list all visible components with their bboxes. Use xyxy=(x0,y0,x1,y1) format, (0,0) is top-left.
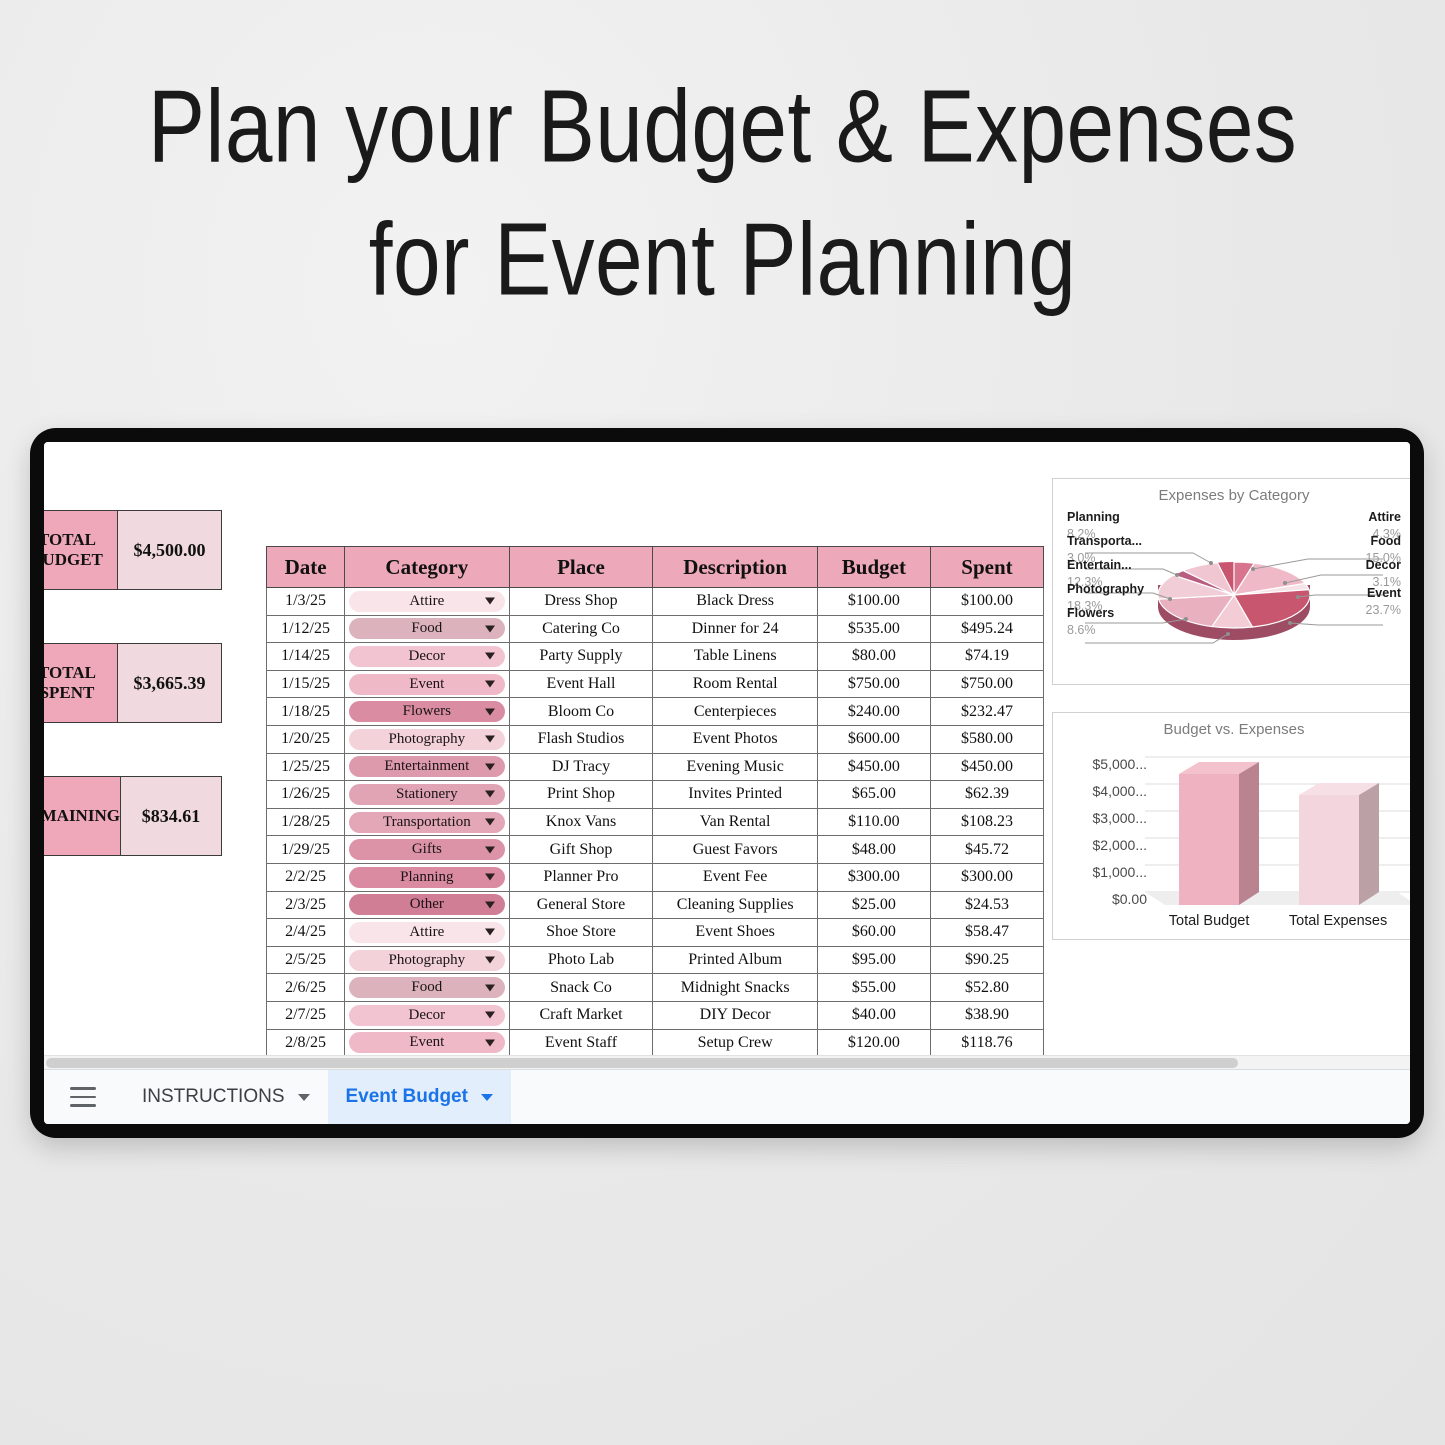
cell-place: Gift Shop xyxy=(509,836,653,864)
cell-spent: $232.47 xyxy=(930,698,1043,726)
chevron-down-icon[interactable] xyxy=(485,791,495,798)
cell-spent: $58.47 xyxy=(930,919,1043,947)
page-title: Plan your Budget & Expenses for Event Pl… xyxy=(0,78,1445,311)
cell-spent: $90.25 xyxy=(930,946,1043,974)
category-dropdown[interactable]: Stationery xyxy=(349,784,504,805)
cell-description: Midnight Snacks xyxy=(653,974,817,1002)
cell-category[interactable]: Decor xyxy=(345,643,509,671)
table-header-budget: Budget xyxy=(817,547,930,588)
cell-category[interactable]: Event xyxy=(345,1029,509,1057)
category-dropdown[interactable]: Decor xyxy=(349,1005,504,1026)
cell-budget: $100.00 xyxy=(817,588,930,616)
y-tick-label: $1,000... xyxy=(1061,859,1147,886)
table-row[interactable]: 1/3/25AttireDress ShopBlack Dress$100.00… xyxy=(267,588,1044,616)
category-dropdown[interactable]: Photography xyxy=(349,729,504,750)
category-label: Gifts xyxy=(412,841,442,858)
cell-spent: $450.00 xyxy=(930,753,1043,781)
category-dropdown[interactable]: Event xyxy=(349,1032,504,1053)
cell-budget: $600.00 xyxy=(817,725,930,753)
table-row[interactable]: 1/18/25FlowersBloom CoCenterpieces$240.0… xyxy=(267,698,1044,726)
cell-category[interactable]: Transportation xyxy=(345,808,509,836)
category-label: Transportation xyxy=(383,814,471,831)
cell-budget: $40.00 xyxy=(817,1001,930,1029)
cell-place: Craft Market xyxy=(509,1001,653,1029)
cell-date: 2/6/25 xyxy=(267,974,345,1002)
chevron-down-icon[interactable] xyxy=(481,1094,493,1101)
cell-spent: $108.23 xyxy=(930,808,1043,836)
category-label: Decor xyxy=(409,648,446,665)
category-dropdown[interactable]: Photography xyxy=(349,950,504,971)
cell-description: Table Linens xyxy=(653,643,817,671)
cell-budget: $80.00 xyxy=(817,643,930,671)
pie-label-event: Event23.7% xyxy=(1366,585,1401,618)
chevron-down-icon[interactable] xyxy=(485,736,495,743)
cell-date: 1/15/25 xyxy=(267,670,345,698)
cell-place: Photo Lab xyxy=(509,946,653,974)
cell-description: Setup Crew xyxy=(653,1029,817,1057)
table-row[interactable]: 2/5/25PhotographyPhoto LabPrinted Album$… xyxy=(267,946,1044,974)
summary-card-0: TOTAL BUDGET$4,500.00 xyxy=(44,510,222,590)
cell-description: Printed Album xyxy=(653,946,817,974)
headline-line-1: Plan your Budget & Expenses xyxy=(51,72,1395,183)
y-tick-label: $0.00 xyxy=(1061,886,1147,913)
cell-budget: $300.00 xyxy=(817,863,930,891)
bar-chart-graphic xyxy=(1145,747,1410,909)
cell-spent: $580.00 xyxy=(930,725,1043,753)
cell-spent: $118.76 xyxy=(930,1029,1043,1057)
cell-date: 1/26/25 xyxy=(267,781,345,809)
cell-date: 2/4/25 xyxy=(267,919,345,947)
cell-category[interactable]: Food xyxy=(345,615,509,643)
cell-description: Event Photos xyxy=(653,725,817,753)
cell-category[interactable]: Stationery xyxy=(345,781,509,809)
cell-spent: $52.80 xyxy=(930,974,1043,1002)
category-label: Event xyxy=(409,676,444,693)
cell-date: 2/2/25 xyxy=(267,863,345,891)
headline-line-2: for Event Planning xyxy=(51,205,1395,316)
summary-cards: TOTAL BUDGET$4,500.00TOTAL SPENT$3,665.3… xyxy=(44,510,236,909)
table-header-date: Date xyxy=(267,547,345,588)
category-dropdown[interactable]: Entertainment xyxy=(349,756,504,777)
cell-budget: $450.00 xyxy=(817,753,930,781)
cell-description: DIY Decor xyxy=(653,1001,817,1029)
cell-spent: $62.39 xyxy=(930,781,1043,809)
cell-budget: $110.00 xyxy=(817,808,930,836)
laptop-screen: TOTAL BUDGET$4,500.00TOTAL SPENT$3,665.3… xyxy=(44,442,1410,1124)
tab-label: Event Budget xyxy=(346,1086,468,1108)
laptop-frame: TOTAL BUDGET$4,500.00TOTAL SPENT$3,665.3… xyxy=(30,428,1424,1138)
pie-chart-title: Expenses by Category xyxy=(1053,487,1410,504)
cell-date: 2/8/25 xyxy=(267,1029,345,1057)
chevron-down-icon[interactable] xyxy=(485,1039,495,1046)
summary-card-1: TOTAL SPENT$3,665.39 xyxy=(44,643,222,723)
cell-place: Dress Shop xyxy=(509,588,653,616)
cell-place: General Store xyxy=(509,891,653,919)
table-row[interactable]: 2/4/25AttireShoe StoreEvent Shoes$60.00$… xyxy=(267,919,1044,947)
cell-budget: $240.00 xyxy=(817,698,930,726)
cell-place: Event Staff xyxy=(509,1029,653,1057)
cell-description: Guest Favors xyxy=(653,836,817,864)
cell-category[interactable]: Food xyxy=(345,974,509,1002)
sheet-tab-event-budget[interactable]: Event Budget xyxy=(328,1070,511,1124)
table-header-place: Place xyxy=(509,547,653,588)
cell-place: DJ Tracy xyxy=(509,753,653,781)
chevron-down-icon[interactable] xyxy=(485,653,495,660)
cell-spent: $74.19 xyxy=(930,643,1043,671)
cell-budget: $55.00 xyxy=(817,974,930,1002)
category-dropdown[interactable]: Food xyxy=(349,618,504,639)
category-dropdown[interactable]: Other xyxy=(349,894,504,915)
table-row[interactable]: 1/12/25FoodCatering CoDinner for 24$535.… xyxy=(267,615,1044,643)
cell-date: 1/12/25 xyxy=(267,615,345,643)
category-dropdown[interactable]: Food xyxy=(349,977,504,998)
x-tick-label: Total Budget xyxy=(1169,913,1250,929)
expenses-by-category-pie-chart[interactable]: Expenses by Category xyxy=(1052,478,1410,685)
summary-card-2: REMAINING$834.61 xyxy=(44,776,222,856)
category-dropdown[interactable]: Flowers xyxy=(349,701,504,722)
category-label: Event xyxy=(409,1034,444,1051)
table-row[interactable]: 1/28/25TransportationKnox VansVan Rental… xyxy=(267,808,1044,836)
cell-description: Centerpieces xyxy=(653,698,817,726)
bar-chart-x-axis: Total BudgetTotal Expenses xyxy=(1149,913,1407,929)
summary-label: TOTAL SPENT xyxy=(44,644,118,722)
bar-chart-y-axis: $5,000...$4,000...$3,000...$2,000...$1,0… xyxy=(1061,751,1147,913)
cell-date: 1/28/25 xyxy=(267,808,345,836)
cell-spent: $300.00 xyxy=(930,863,1043,891)
cell-category[interactable]: Other xyxy=(345,891,509,919)
table-row[interactable]: 2/7/25DecorCraft MarketDIY Decor$40.00$3… xyxy=(267,1001,1044,1029)
chevron-down-icon[interactable] xyxy=(485,625,495,632)
hamburger-icon[interactable] xyxy=(70,1087,96,1107)
cell-category[interactable]: Planning xyxy=(345,863,509,891)
x-tick-label: Total Expenses xyxy=(1289,913,1387,929)
category-dropdown[interactable]: Decor xyxy=(349,646,504,667)
cell-category[interactable]: Gifts xyxy=(345,836,509,864)
cell-description: Evening Music xyxy=(653,753,817,781)
cell-budget: $750.00 xyxy=(817,670,930,698)
summary-value: $4,500.00 xyxy=(118,511,221,589)
chevron-down-icon[interactable] xyxy=(298,1094,310,1101)
category-dropdown[interactable]: Transportation xyxy=(349,812,504,833)
chevron-down-icon[interactable] xyxy=(485,929,495,936)
table-row[interactable]: 1/14/25DecorParty SupplyTable Linens$80.… xyxy=(267,643,1044,671)
y-tick-label: $3,000... xyxy=(1061,805,1147,832)
cell-budget: $60.00 xyxy=(817,919,930,947)
chevron-down-icon[interactable] xyxy=(485,1012,495,1019)
summary-label: REMAINING xyxy=(44,777,121,855)
category-dropdown[interactable]: Attire xyxy=(349,591,504,612)
spreadsheet-canvas[interactable]: TOTAL BUDGET$4,500.00TOTAL SPENT$3,665.3… xyxy=(44,442,1410,1070)
table-header-description: Description xyxy=(653,547,817,588)
category-label: Decor xyxy=(409,1007,446,1024)
tab-label: INSTRUCTIONS xyxy=(142,1086,285,1108)
cell-date: 1/25/25 xyxy=(267,753,345,781)
category-label: Photography xyxy=(388,952,465,969)
table-row[interactable]: 2/2/25PlanningPlanner ProEvent Fee$300.0… xyxy=(267,863,1044,891)
category-dropdown[interactable]: Event xyxy=(349,674,504,695)
chevron-down-icon[interactable] xyxy=(485,901,495,908)
cell-description: Cleaning Supplies xyxy=(653,891,817,919)
cell-description: Event Shoes xyxy=(653,919,817,947)
category-label: Stationery xyxy=(396,786,458,803)
cell-category[interactable]: Photography xyxy=(345,725,509,753)
cell-spent: $750.00 xyxy=(930,670,1043,698)
cell-budget: $95.00 xyxy=(817,946,930,974)
budget-vs-expenses-bar-chart[interactable]: Budget vs. Expenses $5,000...$4,000...$3… xyxy=(1052,712,1410,940)
table-header-category: Category xyxy=(345,547,509,588)
cell-date: 1/14/25 xyxy=(267,643,345,671)
chevron-down-icon[interactable] xyxy=(485,819,495,826)
cell-category[interactable]: Flowers xyxy=(345,698,509,726)
cell-date: 2/3/25 xyxy=(267,891,345,919)
cell-date: 1/20/25 xyxy=(267,725,345,753)
cell-budget: $120.00 xyxy=(817,1029,930,1057)
cell-description: Invites Printed xyxy=(653,781,817,809)
cell-place: Snack Co xyxy=(509,974,653,1002)
y-tick-label: $4,000... xyxy=(1061,778,1147,805)
cell-budget: $535.00 xyxy=(817,615,930,643)
cell-category[interactable]: Entertainment xyxy=(345,753,509,781)
y-tick-label: $2,000... xyxy=(1061,832,1147,859)
table-row[interactable]: 2/8/25EventEvent StaffSetup Crew$120.00$… xyxy=(267,1029,1044,1057)
sheet-tab-bar: INSTRUCTIONSEvent Budget xyxy=(44,1069,1410,1124)
chevron-down-icon[interactable] xyxy=(485,598,495,605)
cell-place: Flash Studios xyxy=(509,725,653,753)
scrollbar-thumb[interactable] xyxy=(46,1058,1238,1068)
summary-value: $3,665.39 xyxy=(118,644,221,722)
category-label: Attire xyxy=(409,593,444,610)
cell-place: Knox Vans xyxy=(509,808,653,836)
table-row[interactable]: 1/26/25StationeryPrint ShopInvites Print… xyxy=(267,781,1044,809)
cell-budget: $48.00 xyxy=(817,836,930,864)
y-tick-label: $5,000... xyxy=(1061,751,1147,778)
table-header-spent: Spent xyxy=(930,547,1043,588)
cell-date: 1/3/25 xyxy=(267,588,345,616)
cell-date: 1/18/25 xyxy=(267,698,345,726)
category-label: Food xyxy=(411,620,442,637)
cell-spent: $100.00 xyxy=(930,588,1043,616)
chevron-down-icon[interactable] xyxy=(485,846,495,853)
cell-spent: $45.72 xyxy=(930,836,1043,864)
cell-place: Party Supply xyxy=(509,643,653,671)
sheet-tab-instructions[interactable]: INSTRUCTIONS xyxy=(124,1070,328,1124)
cell-description: Black Dress xyxy=(653,588,817,616)
category-label: Food xyxy=(411,979,442,996)
cell-date: 1/29/25 xyxy=(267,836,345,864)
table-row[interactable]: 1/25/25EntertainmentDJ TracyEvening Musi… xyxy=(267,753,1044,781)
category-label: Planning xyxy=(400,869,453,886)
cell-place: Print Shop xyxy=(509,781,653,809)
cell-date: 2/7/25 xyxy=(267,1001,345,1029)
chevron-down-icon[interactable] xyxy=(485,681,495,688)
summary-label: TOTAL BUDGET xyxy=(44,511,118,589)
expense-table[interactable]: DateCategoryPlaceDescriptionBudgetSpent … xyxy=(266,546,1044,1070)
cell-category[interactable]: Event xyxy=(345,670,509,698)
table-row[interactable]: 1/29/25GiftsGift ShopGuest Favors$48.00$… xyxy=(267,836,1044,864)
cell-place: Event Hall xyxy=(509,670,653,698)
pie-label-flowers: Flowers8.6% xyxy=(1067,605,1114,638)
cell-date: 2/5/25 xyxy=(267,946,345,974)
chevron-down-icon[interactable] xyxy=(485,984,495,991)
bar-chart-title: Budget vs. Expenses xyxy=(1053,721,1410,738)
cell-place: Planner Pro xyxy=(509,863,653,891)
cell-budget: $65.00 xyxy=(817,781,930,809)
category-label: Flowers xyxy=(403,703,451,720)
cell-category[interactable]: Attire xyxy=(345,588,509,616)
category-dropdown[interactable]: Attire xyxy=(349,922,504,943)
table-header-row: DateCategoryPlaceDescriptionBudgetSpent xyxy=(267,547,1044,588)
table-row[interactable]: 1/15/25EventEvent HallRoom Rental$750.00… xyxy=(267,670,1044,698)
cell-place: Bloom Co xyxy=(509,698,653,726)
cell-category[interactable]: Attire xyxy=(345,919,509,947)
chevron-down-icon[interactable] xyxy=(485,708,495,715)
table-row[interactable]: 1/20/25PhotographyFlash StudiosEvent Pho… xyxy=(267,725,1044,753)
cell-budget: $25.00 xyxy=(817,891,930,919)
cell-description: Room Rental xyxy=(653,670,817,698)
cell-spent: $38.90 xyxy=(930,1001,1043,1029)
category-label: Photography xyxy=(388,731,465,748)
category-label: Attire xyxy=(409,924,444,941)
category-dropdown[interactable]: Planning xyxy=(349,867,504,888)
table-row[interactable]: 2/6/25FoodSnack CoMidnight Snacks$55.00$… xyxy=(267,974,1044,1002)
chevron-down-icon[interactable] xyxy=(485,957,495,964)
cell-description: Event Fee xyxy=(653,863,817,891)
cell-description: Dinner for 24 xyxy=(653,615,817,643)
horizontal-scrollbar[interactable] xyxy=(44,1055,1410,1070)
category-label: Other xyxy=(410,896,444,913)
summary-value: $834.61 xyxy=(121,777,221,855)
cell-place: Catering Co xyxy=(509,615,653,643)
cell-place: Shoe Store xyxy=(509,919,653,947)
cell-spent: $495.24 xyxy=(930,615,1043,643)
cell-spent: $24.53 xyxy=(930,891,1043,919)
chevron-down-icon[interactable] xyxy=(485,763,495,770)
table-row[interactable]: 2/3/25OtherGeneral StoreCleaning Supplie… xyxy=(267,891,1044,919)
category-label: Entertainment xyxy=(384,758,469,775)
chevron-down-icon[interactable] xyxy=(485,874,495,881)
cell-category[interactable]: Decor xyxy=(345,1001,509,1029)
cell-category[interactable]: Photography xyxy=(345,946,509,974)
category-dropdown[interactable]: Gifts xyxy=(349,839,504,860)
cell-description: Van Rental xyxy=(653,808,817,836)
